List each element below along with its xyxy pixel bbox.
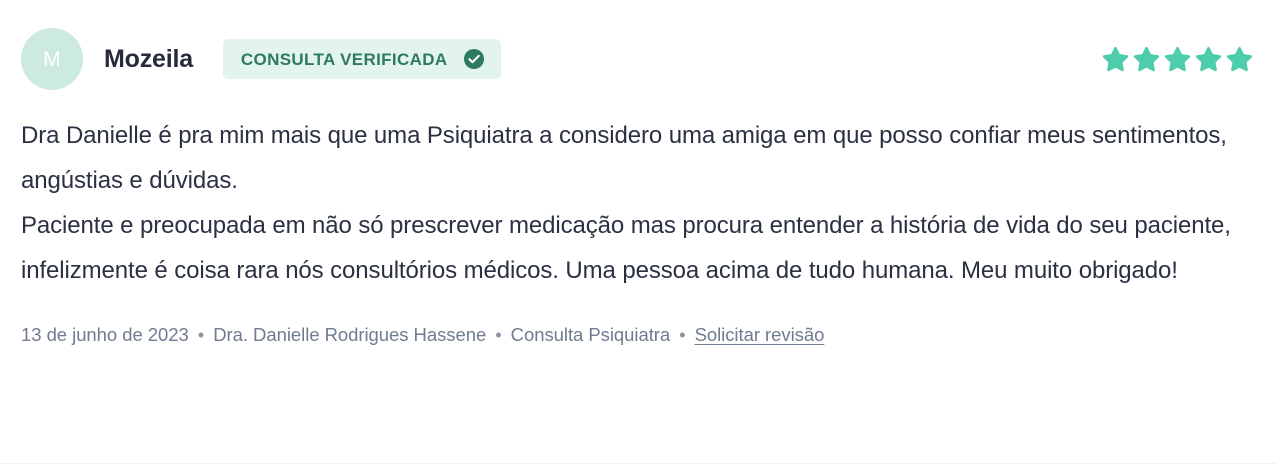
request-review-link[interactable]: Solicitar revisão bbox=[695, 323, 825, 347]
review-meta: 13 de junho de 2023 • Dra. Danielle Rodr… bbox=[0, 323, 1276, 347]
verified-consultation-badge: CONSULTA VERIFICADA bbox=[223, 39, 502, 79]
avatar-initial: M bbox=[43, 49, 61, 70]
rating-stars bbox=[1101, 45, 1254, 74]
verified-badge-label: CONSULTA VERIFICADA bbox=[241, 51, 448, 68]
consultation-type: Consulta Psiquiatra bbox=[511, 323, 670, 347]
author-name: Mozeila bbox=[104, 45, 193, 74]
star-icon bbox=[1101, 45, 1130, 74]
doctor-name: Dra. Danielle Rodrigues Hassene bbox=[213, 323, 486, 347]
review-header: M Mozeila CONSULTA VERIFICADA bbox=[0, 28, 1276, 90]
meta-separator: • bbox=[198, 323, 204, 347]
star-icon bbox=[1194, 45, 1223, 74]
star-icon bbox=[1163, 45, 1192, 74]
review-paragraph: Dra Danielle é pra mim mais que uma Psiq… bbox=[21, 113, 1236, 203]
check-circle-icon bbox=[464, 49, 484, 69]
meta-separator: • bbox=[679, 323, 685, 347]
avatar: M bbox=[21, 28, 83, 90]
review-text: Dra Danielle é pra mim mais que uma Psiq… bbox=[0, 113, 1276, 293]
review-card: M Mozeila CONSULTA VERIFICADA Dra Daniel… bbox=[0, 0, 1276, 464]
review-date: 13 de junho de 2023 bbox=[21, 323, 189, 347]
star-icon bbox=[1132, 45, 1161, 74]
star-icon bbox=[1225, 45, 1254, 74]
review-paragraph: Paciente e preocupada em não só prescrev… bbox=[21, 203, 1236, 293]
meta-separator: • bbox=[495, 323, 501, 347]
